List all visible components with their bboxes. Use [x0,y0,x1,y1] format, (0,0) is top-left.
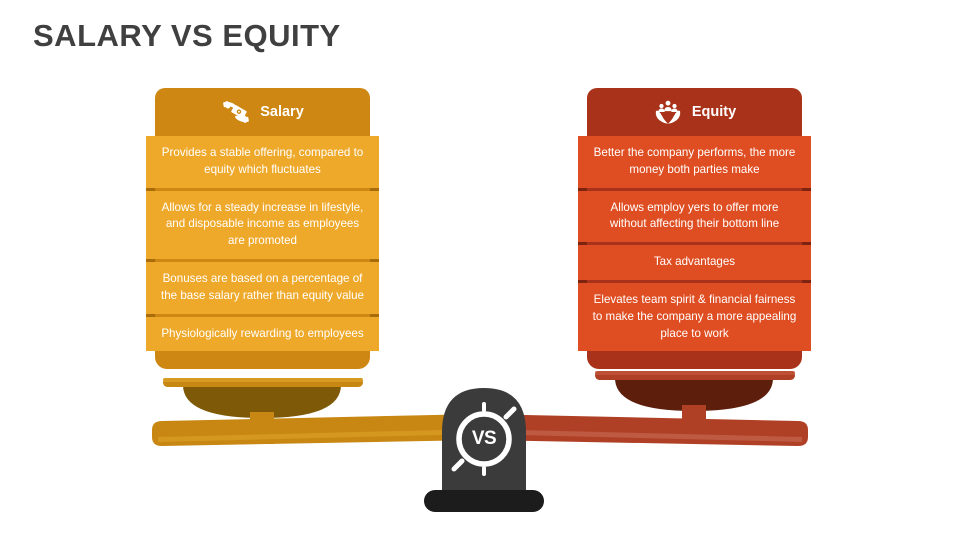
panel-salary-body: Provides a stable offering, compared to … [155,136,370,369]
list-item[interactable]: Bonuses are based on a percentage of the… [146,262,379,314]
beam-right [480,414,808,446]
list-item[interactable]: Physiologically rewarding to employees [146,317,379,352]
panel-equity: Equity Better the company performs, the … [587,88,802,369]
equity-plate-rim-highlight [595,371,795,375]
list-item[interactable]: Allows for a steady increase in lifestyl… [146,191,379,259]
fulcrum-pillar [442,388,526,496]
hands-exchanging-money-icon [221,99,251,125]
beam-left-highlight [158,429,480,442]
panel-equity-header: Equity [587,88,802,136]
equity-plate-post [682,405,706,437]
panel-salary-header: Salary [155,88,370,136]
list-item[interactable]: Provides a stable offering, compared to … [146,136,379,188]
slide-canvas: SALARY VS EQUITY V [0,0,960,540]
list-item[interactable]: Better the company performs, the more mo… [578,136,811,188]
balance-scale-graphic [0,0,960,540]
list-item[interactable]: Elevates team spirit & financial fairnes… [578,283,811,351]
beam-left [152,414,480,446]
vs-badge: VS [0,0,960,540]
panel-salary-title: Salary [260,104,304,120]
salary-plate-rim [163,378,363,387]
panel-equity-title: Equity [692,104,736,120]
list-item[interactable]: Allows employ yers to offer more without… [578,191,811,243]
salary-plate-rim-highlight [163,378,363,382]
panel-equity-body: Better the company performs, the more mo… [587,136,802,369]
beam-right-highlight [480,429,802,442]
list-item[interactable]: Tax advantages [578,245,811,280]
salary-plate-bowl [183,385,341,418]
people-in-hands-icon [653,99,683,125]
salary-plate-post [250,412,274,444]
fulcrum-base [424,490,544,512]
vs-circle-icon [454,404,514,474]
vs-label: VS [463,428,505,450]
panel-salary: Salary Provides a stable offering, compa… [155,88,370,369]
page-title: SALARY VS EQUITY [33,18,341,54]
equity-plate-rim [595,371,795,380]
equity-plate-bowl [615,378,773,411]
